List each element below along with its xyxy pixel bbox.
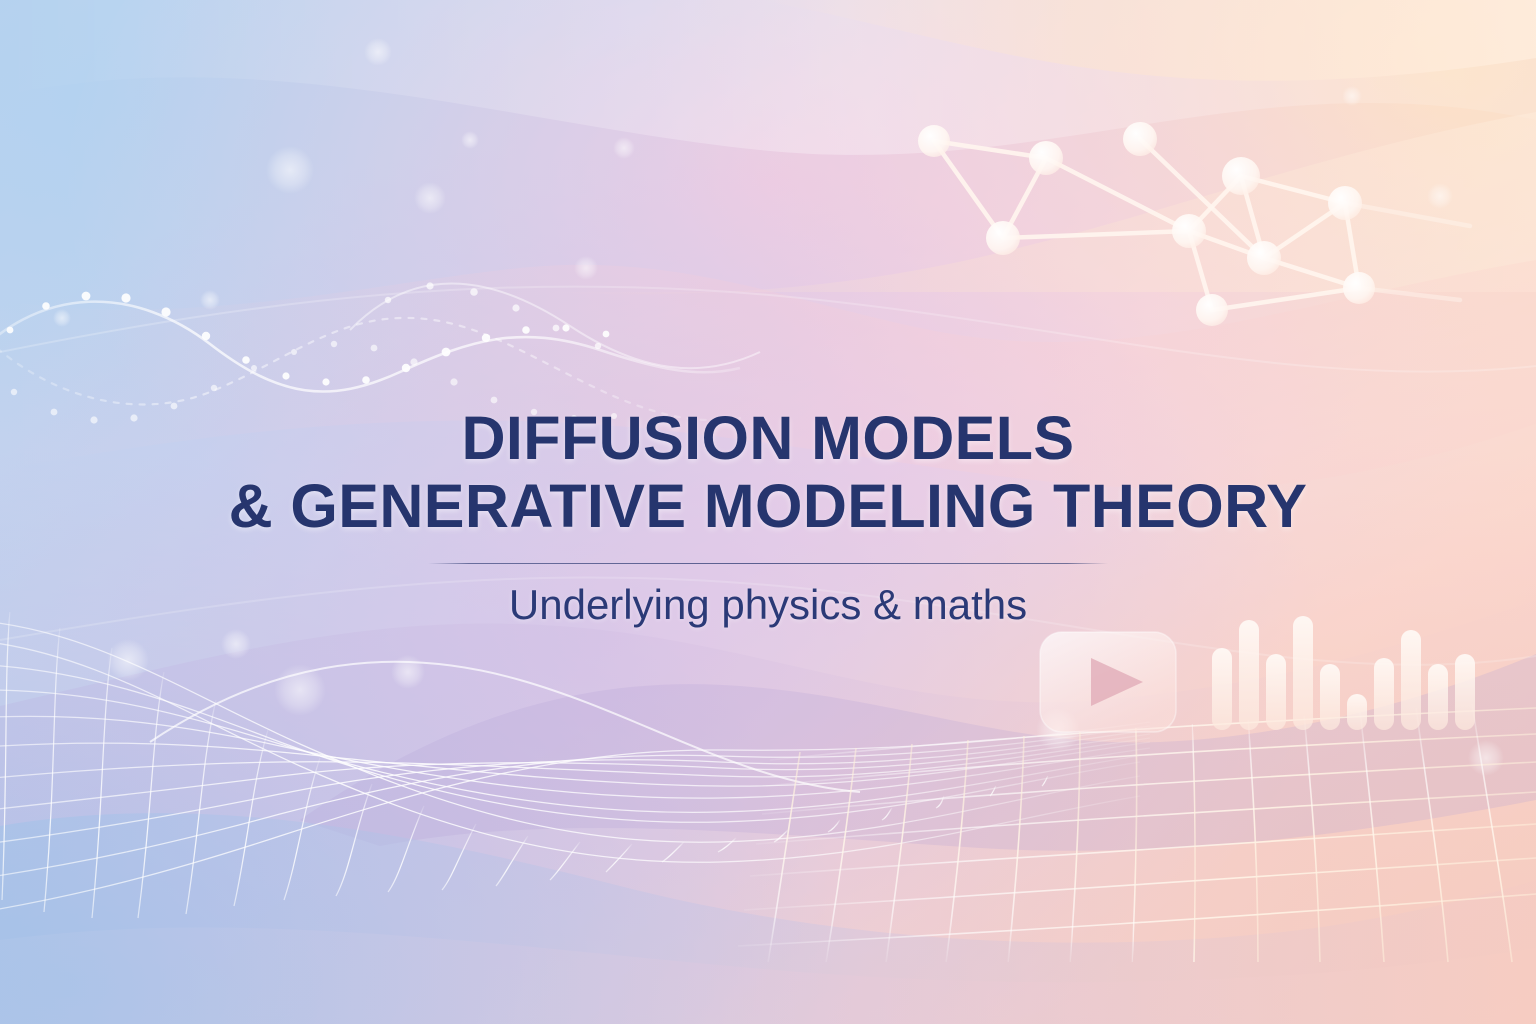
title-line-2: & GENERATIVE MODELING THEORY xyxy=(229,472,1308,540)
audio-bar xyxy=(1293,616,1313,730)
title-block: DIFFUSION MODELS & GENERATIVE MODELING T… xyxy=(0,404,1536,628)
audio-bar xyxy=(1374,658,1394,730)
page-title: DIFFUSION MODELS & GENERATIVE MODELING T… xyxy=(229,404,1308,541)
audio-bar xyxy=(1455,654,1475,730)
title-divider xyxy=(428,563,1108,564)
title-line-1: DIFFUSION MODELS xyxy=(229,404,1308,472)
audio-bar xyxy=(1212,648,1232,730)
audio-waveform-bars xyxy=(1212,616,1475,730)
audio-bar xyxy=(1428,664,1448,730)
title-slide: DIFFUSION MODELS & GENERATIVE MODELING T… xyxy=(0,0,1536,1024)
audio-bar xyxy=(1320,664,1340,730)
audio-bar xyxy=(1401,630,1421,730)
audio-bar xyxy=(1239,620,1259,730)
subtitle: Underlying physics & maths xyxy=(509,582,1027,628)
audio-bar xyxy=(1266,654,1286,730)
audio-bar xyxy=(1347,694,1367,730)
